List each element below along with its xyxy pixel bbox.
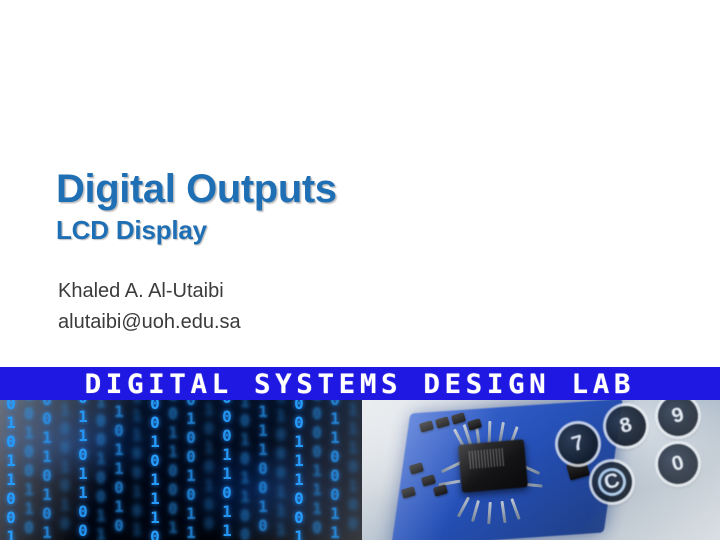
binary-column: 0 1 0 1 1 0 0 1: [2, 400, 20, 540]
keypad-key-c-label: C: [601, 468, 622, 495]
binary-column: 1 0 1 1 0 0 0 1: [164, 400, 182, 537]
binary-column: 1 1 1 1 0 1 0 0: [344, 400, 362, 533]
keypad-key-8-label: 8: [617, 413, 635, 439]
keypad-key-7-label: 7: [569, 431, 587, 457]
slide-canvas: Digital Outputs LCD Display Khaled A. Al…: [0, 0, 720, 540]
keypad-key-9[interactable]: 9: [653, 400, 702, 441]
binary-column: 0 1 1 0 0 0 1 1: [326, 400, 344, 540]
binary-column: 1 1 1 0 0 1 0 1: [128, 400, 146, 539]
page-subtitle: LCD Display: [56, 214, 676, 246]
lab-banner-text: DIGITAL SYSTEMS DESIGN LAB: [85, 369, 635, 400]
microchip: [458, 439, 528, 493]
page-title: Digital Outputs: [56, 166, 676, 212]
binary-column: 1 0 0 0 1 1 1 0: [308, 400, 326, 537]
binary-column: 1 0 1 0 1 1 0 0: [236, 400, 254, 540]
binary-column: 0 1 0 0 1 0 1 1: [182, 400, 200, 540]
keypad-key-0-label: 0: [669, 451, 687, 477]
binary-column: 1 1 0 0 1 0 1 0: [56, 400, 74, 533]
binary-column: 1 0 1 0 0 1 1 0: [20, 400, 38, 537]
binary-column: 0 0 1 0 1 1 1 0: [146, 400, 164, 540]
binary-column: 1 1 0 1 0 1 0 0: [200, 400, 218, 533]
binary-column: 0 1 1 0 1 1 0 0: [74, 400, 92, 540]
lab-banner-inner: DIGITAL SYSTEMS DESIGN LAB: [0, 367, 720, 401]
keypad-key-0[interactable]: 0: [653, 439, 702, 488]
binary-column: 0 0 1 1 1 0 0 1: [290, 400, 308, 540]
binary-column: 0 0 0 1 1 0 1 1: [218, 400, 236, 540]
lab-banner: DIGITAL SYSTEMS DESIGN LAB: [0, 367, 720, 401]
binary-column: 0 1 0 1 1 0 1 0: [110, 400, 128, 535]
binary-matrix-image: 0 1 0 1 1 0 0 11 0 1 0 0 1 1 00 0 1 1 0 …: [0, 400, 362, 540]
author-email: alutaibi@uoh.edu.sa: [58, 307, 658, 338]
binary-column: 0 0 1 1 0 1 0 1: [38, 400, 56, 540]
title-block: Digital Outputs LCD Display: [56, 166, 676, 246]
author-name: Khaled A. Al-Utaibi: [58, 276, 658, 307]
author-block: Khaled A. Al-Utaibi alutaibi@uoh.edu.sa: [58, 276, 658, 338]
binary-column: 0 1 1 1 0 0 1 0: [254, 400, 272, 535]
binary-column: 1 1 0 0 0 1 1 1: [272, 400, 290, 539]
keypad-key-9-label: 9: [669, 403, 687, 429]
binary-column: 1 0 0 1 0 0 1 1: [92, 400, 110, 540]
footer-image-strip: 0 1 0 1 1 0 0 11 0 1 0 0 1 1 00 0 1 1 0 …: [0, 400, 720, 540]
circuit-board-image: 7 8 9 0 C: [362, 400, 720, 540]
